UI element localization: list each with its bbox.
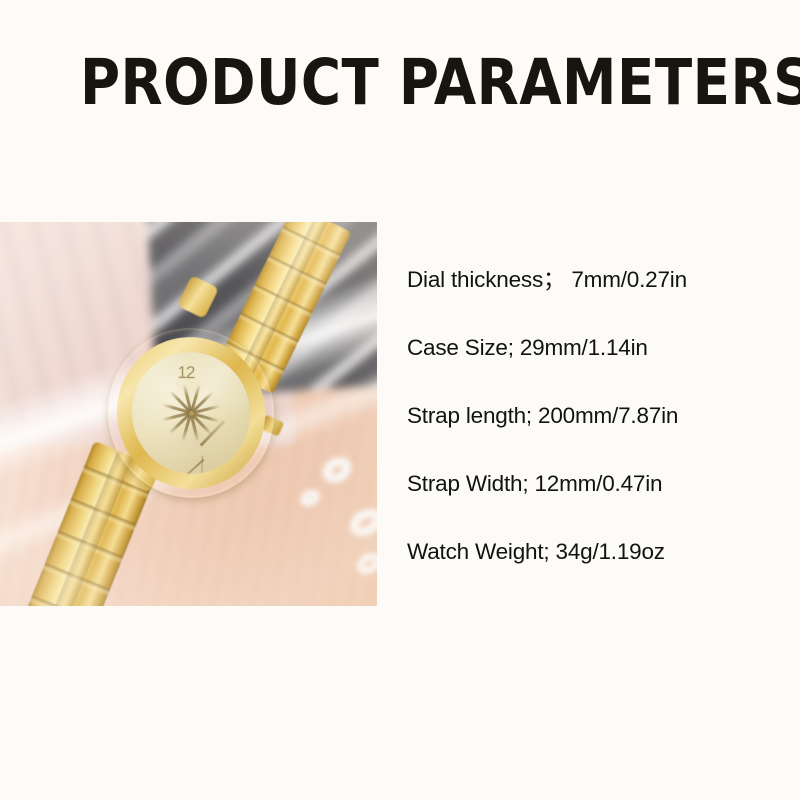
- spec-list: Dial thickness； 7mm/0.27in Case Size; 29…: [407, 246, 777, 586]
- spec-text: Watch Weight; 34g/1.19oz: [407, 539, 665, 565]
- dial-numeral-12: 12: [177, 363, 194, 383]
- spec-row-strap-length: Strap length; 200mm/7.87in: [407, 382, 777, 450]
- product-parameters-page: PRODUCT PARAMETERS: [0, 0, 800, 800]
- page-title: PRODUCT PARAMETERS: [80, 52, 698, 114]
- spec-row-case-size: Case Size; 29mm/1.14in: [407, 314, 777, 382]
- wristwatch: 12: [0, 222, 377, 606]
- spec-text: Strap length; 200mm/7.87in: [407, 403, 678, 429]
- product-photo: 12: [0, 222, 377, 606]
- spec-row-watch-weight: Watch Weight; 34g/1.19oz: [407, 518, 777, 586]
- watch-dial: 12: [119, 340, 263, 487]
- spec-text: Strap Width; 12mm/0.47in: [407, 471, 662, 497]
- spec-row-strap-width: Strap Width; 12mm/0.47in: [407, 450, 777, 518]
- spec-text: Case Size; 29mm/1.14in: [407, 335, 648, 361]
- spec-row-dial-thickness: Dial thickness； 7mm/0.27in: [407, 246, 777, 314]
- watch-lug-top: [177, 275, 219, 319]
- spec-text: Dial thickness； 7mm/0.27in: [407, 267, 687, 293]
